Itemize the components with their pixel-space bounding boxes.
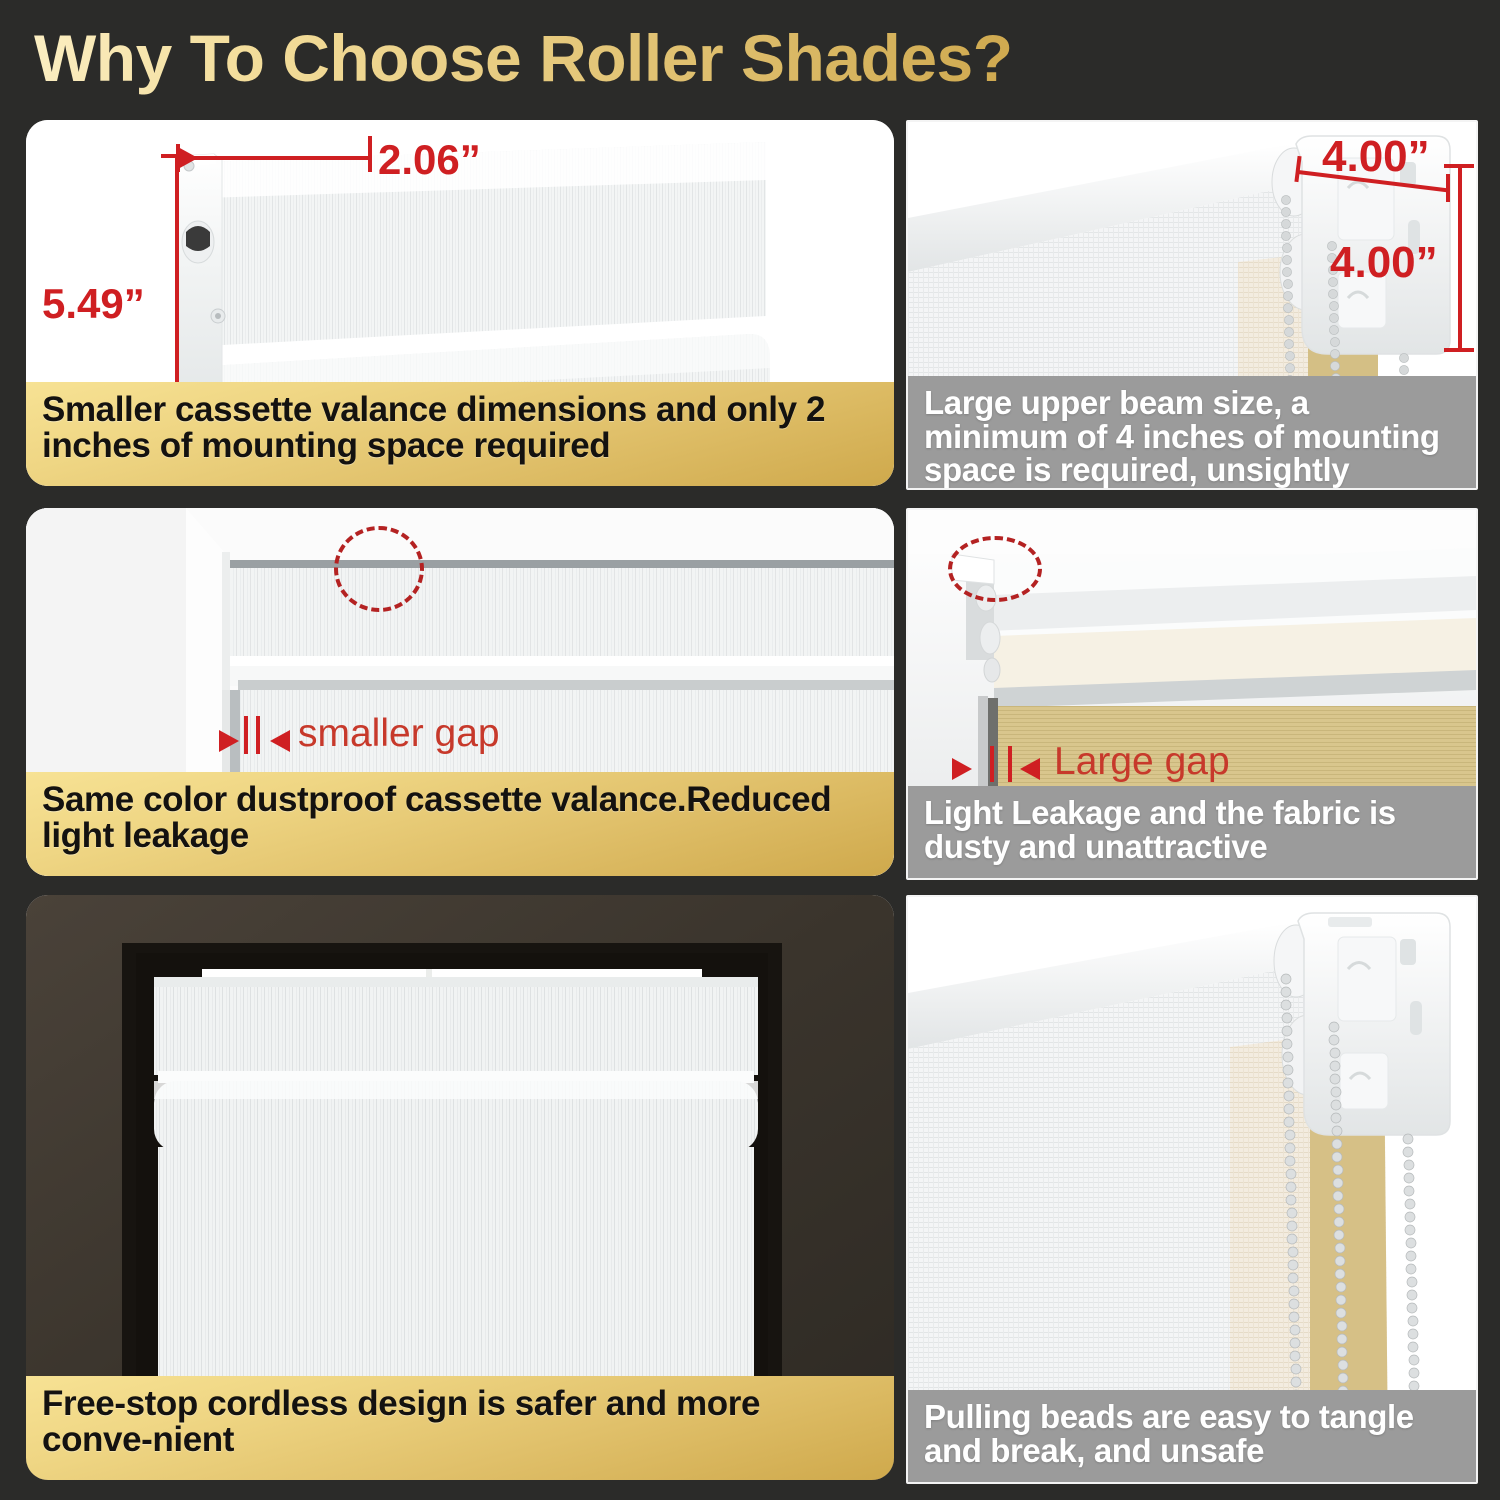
page-title: Why To Choose Roller Shades?: [34, 20, 1013, 96]
panel-cordless-design: Free-stop cordless design is safer and m…: [26, 895, 894, 1480]
panel-smaller-cassette: 2.06” 5.49” Smaller cassette valance dim…: [26, 120, 894, 486]
panel-1-caption: Smaller cassette valance dimensions and …: [26, 382, 894, 486]
beam-height-label: 4.00”: [1330, 238, 1438, 288]
beam-width-label: 4.00”: [1322, 132, 1430, 182]
gap-arrow-left: [952, 758, 972, 780]
panel-3-caption: Same color dustproof cassette valance.Re…: [26, 772, 894, 876]
smaller-gap-label: smaller gap: [298, 712, 500, 756]
panel-2-caption: Large upper beam size, a minimum of 4 in…: [908, 376, 1476, 488]
panel-dustproof-cassette: smaller gap Same color dustproof cassett…: [26, 508, 894, 876]
width-dim-arrow: [178, 147, 198, 169]
beam-height-dim-line: [1458, 166, 1462, 352]
highlight-circle: [948, 536, 1042, 602]
panel-large-upper-beam: 4.00” 4.00” Large upper beam size, a min…: [906, 120, 1478, 490]
highlight-circle: [334, 526, 424, 612]
panel-pulling-beads: Pulling beads are easy to tangle and bre…: [906, 895, 1478, 1484]
large-gap-label: Large gap: [1054, 740, 1230, 784]
height-dimension-label: 5.49”: [42, 280, 145, 328]
gap-tick-b: [256, 716, 260, 754]
gap-tick-a: [244, 716, 248, 754]
beam-width-tick-right: [1446, 174, 1450, 202]
gap-tick-a: [990, 746, 994, 782]
panel-5-caption: Free-stop cordless design is safer and m…: [26, 1376, 894, 1480]
width-dim-tick-right: [368, 136, 372, 172]
beam-height-tick-top: [1444, 164, 1474, 168]
gap-tick-b: [1008, 746, 1012, 782]
gap-arrow-left: [219, 730, 239, 752]
infographic-root: Why To Choose Roller Shades?: [0, 0, 1500, 1500]
panel-4-caption: Light Leakage and the fabric is dusty an…: [908, 786, 1476, 878]
width-dimension-line: [176, 156, 372, 160]
gap-arrow-right: [1020, 758, 1040, 780]
panel-light-leakage: Large gap Light Leakage and the fabric i…: [906, 508, 1478, 880]
height-dim-tick-top: [161, 154, 191, 158]
beam-height-tick-bottom: [1444, 348, 1474, 352]
gap-arrow-right: [270, 730, 290, 752]
panel-6-caption: Pulling beads are easy to tangle and bre…: [908, 1390, 1476, 1482]
width-dimension-label: 2.06”: [378, 136, 481, 184]
